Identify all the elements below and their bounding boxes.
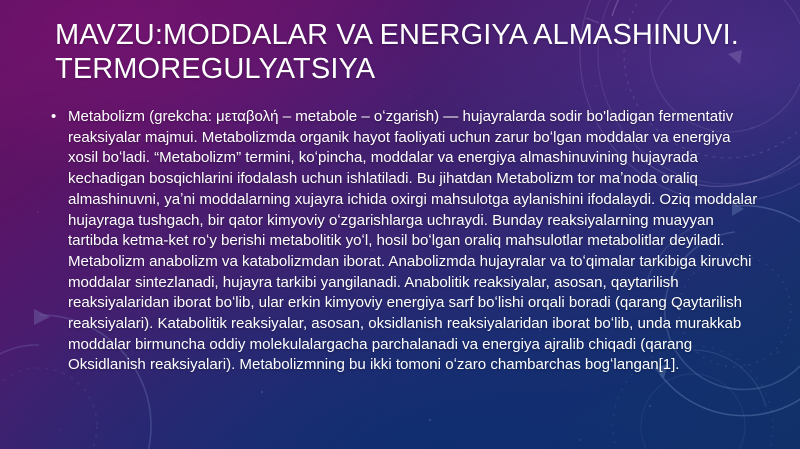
bullet-list-item: • Metabolizm (grekcha: μεταβολή – metabo… xyxy=(46,107,762,376)
slide-title: MAVZU:MODDALAR VA ENERGIYA ALMASHINUVI. … xyxy=(55,18,755,86)
bullet-point-icon: • xyxy=(46,107,68,128)
presentation-slide: MAVZU:MODDALAR VA ENERGIYA ALMASHINUVI. … xyxy=(0,0,800,449)
slide-body-paragraph: Metabolizm (grekcha: μεταβολή – metabole… xyxy=(68,107,762,376)
